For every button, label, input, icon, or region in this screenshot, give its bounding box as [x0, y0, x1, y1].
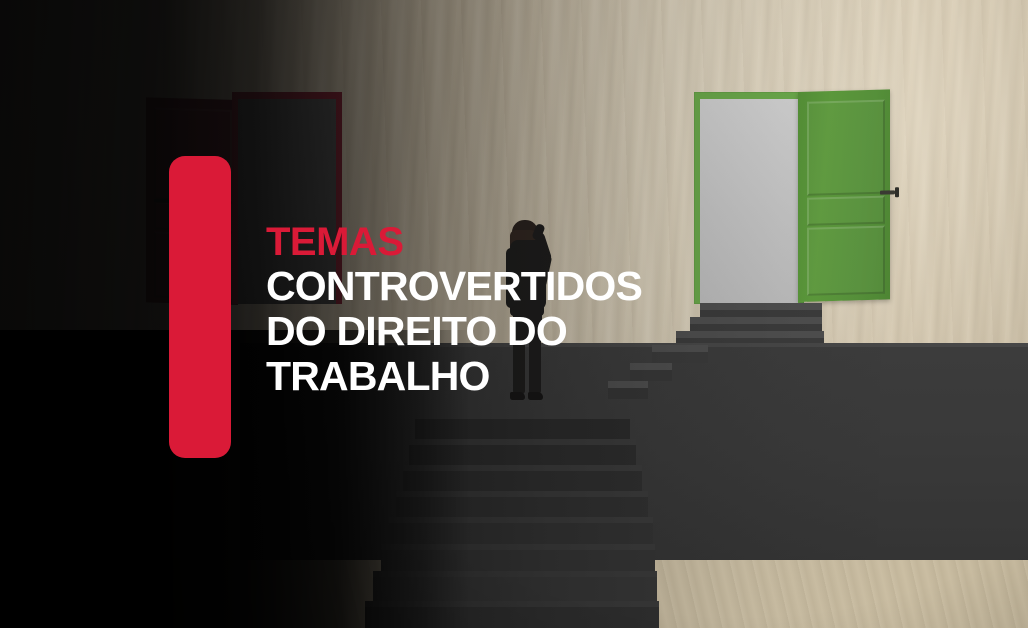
slide-canvas: TEMAS CONTROVERTIDOS DO DIREITO DO TRABA… — [0, 0, 1028, 628]
green-door-inset-mid — [807, 196, 885, 226]
green-door-inset-bottom — [807, 226, 885, 296]
front-stair-step-5 — [389, 517, 653, 544]
title-kicker: TEMAS — [266, 220, 696, 264]
front-stair-step-6 — [381, 544, 655, 571]
step-tread — [409, 439, 636, 445]
green-door-inset-top — [807, 100, 885, 196]
title-line-2: DO DIREITO DO — [266, 309, 696, 354]
step-tread — [415, 413, 630, 419]
title-line-1: CONTROVERTIDOS — [266, 264, 696, 309]
green-door-step-2 — [690, 317, 822, 331]
front-stair-step-8 — [365, 601, 659, 628]
front-stair-step-4 — [396, 491, 648, 517]
green-door-step-1 — [700, 303, 822, 317]
green-door-panel — [798, 89, 890, 302]
green-door-handle — [880, 190, 895, 194]
green-door — [694, 92, 890, 304]
step-tread — [690, 317, 822, 324]
red-door-handle — [154, 199, 169, 203]
step-tread — [389, 517, 653, 523]
step-tread — [381, 544, 655, 550]
green-door-frame — [694, 92, 804, 304]
step-tread — [396, 491, 648, 497]
step-tread — [700, 303, 822, 310]
front-stair-step-7 — [373, 571, 657, 601]
front-stair-step-3 — [403, 465, 642, 491]
green-doorway-opening — [700, 99, 798, 304]
front-stair-step-2 — [409, 439, 636, 465]
step-tread — [403, 465, 642, 471]
step-tread — [676, 331, 824, 338]
step-tread — [373, 571, 657, 577]
red-accent-bar — [169, 156, 231, 458]
title-block: TEMAS CONTROVERTIDOS DO DIREITO DO TRABA… — [266, 220, 696, 399]
step-tread — [365, 601, 659, 607]
front-stair-step-1 — [415, 413, 630, 439]
title-line-3: TRABALHO — [266, 354, 696, 399]
